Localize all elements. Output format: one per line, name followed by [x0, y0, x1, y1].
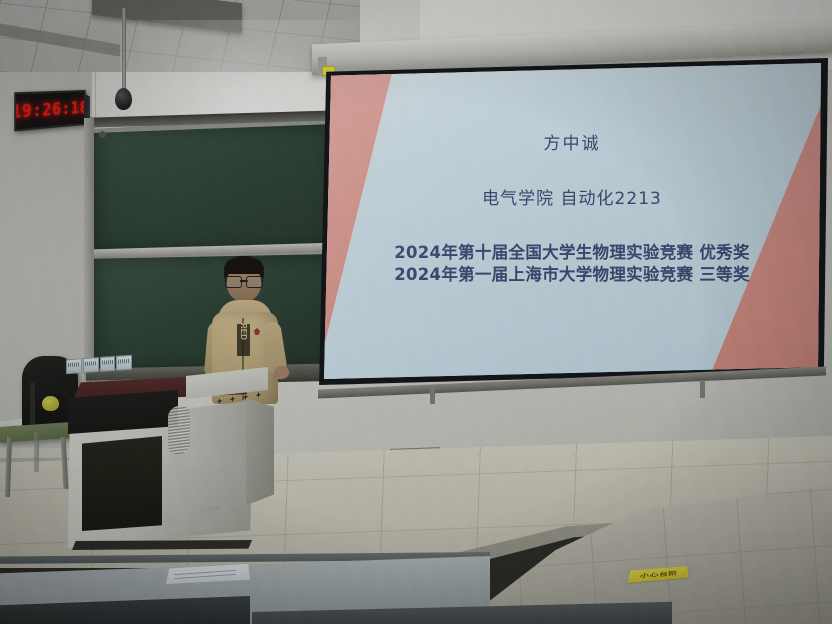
podium-base	[72, 540, 252, 550]
podium-front-panel	[82, 436, 162, 531]
classroom-photo: 19:26:18 SCREEN 方中诚 电气学院 自动化2213 2024年第十…	[0, 0, 832, 624]
screen-support-leg-right	[700, 380, 705, 398]
microphone-rod	[122, 8, 126, 92]
slide-awards: 2024年第十届全国大学生物理实验竞赛 优秀奖 2024年第一届上海市大学物理实…	[394, 242, 750, 288]
blackboard-panel-upper	[94, 124, 334, 252]
slide-affiliation: 电气学院 自动化2213	[482, 184, 662, 209]
small-box	[66, 358, 82, 374]
backpack-strap	[30, 382, 35, 426]
slide-text-block: 方中诚 电气学院 自动化2213 2024年第十届全国大学生物理实验竞赛 优秀奖…	[322, 63, 822, 379]
ceiling-microphone-icon	[115, 88, 132, 110]
slide-background: 方中诚 电气学院 自动化2213 2024年第十届全国大学生物理实验竞赛 优秀奖…	[322, 63, 822, 379]
slide-presenter-name: 方中诚	[544, 129, 601, 154]
glasses-lens-right	[246, 276, 263, 288]
projection-screen: 方中诚 电气学院 自动化2213 2024年第十届全国大学生物理实验竞赛 优秀奖…	[322, 63, 822, 379]
jacket-print-text: RED	[239, 323, 248, 338]
presenter-fringe	[224, 258, 264, 274]
small-box	[83, 357, 99, 373]
led-wall-clock: 19:26:18	[14, 90, 86, 132]
podium-boxes	[66, 355, 132, 375]
slide-award-2: 2024年第一届上海市大学物理实验竞赛 三等奖	[394, 264, 750, 287]
clock-time-display: 19:26:18	[14, 98, 86, 123]
small-box	[100, 356, 116, 372]
multimedia-lectern[interactable]: Vioto	[60, 358, 280, 554]
slide-award-1: 2024年第十届全国大学生物理实验竞赛 优秀奖	[394, 242, 750, 265]
podium-button[interactable]	[230, 396, 236, 403]
glasses-lens-left	[225, 276, 242, 288]
glasses-icon	[225, 276, 263, 286]
paper-writing-lines	[174, 567, 236, 579]
chair-leg	[34, 432, 40, 472]
small-box	[116, 355, 132, 371]
podium-side-panel	[246, 398, 274, 510]
jacket-print-block: RED	[237, 324, 250, 356]
caution-sign-text: 小心台阶	[639, 569, 678, 579]
screen-support-leg-left	[430, 386, 435, 404]
blackboard-knob	[99, 131, 106, 138]
blackboard-left-post	[84, 118, 94, 376]
backpack-yellow-item	[42, 396, 59, 411]
podium-button[interactable]	[256, 391, 262, 398]
podium-speaker-grille	[168, 405, 190, 456]
podium-button[interactable]	[217, 398, 223, 405]
